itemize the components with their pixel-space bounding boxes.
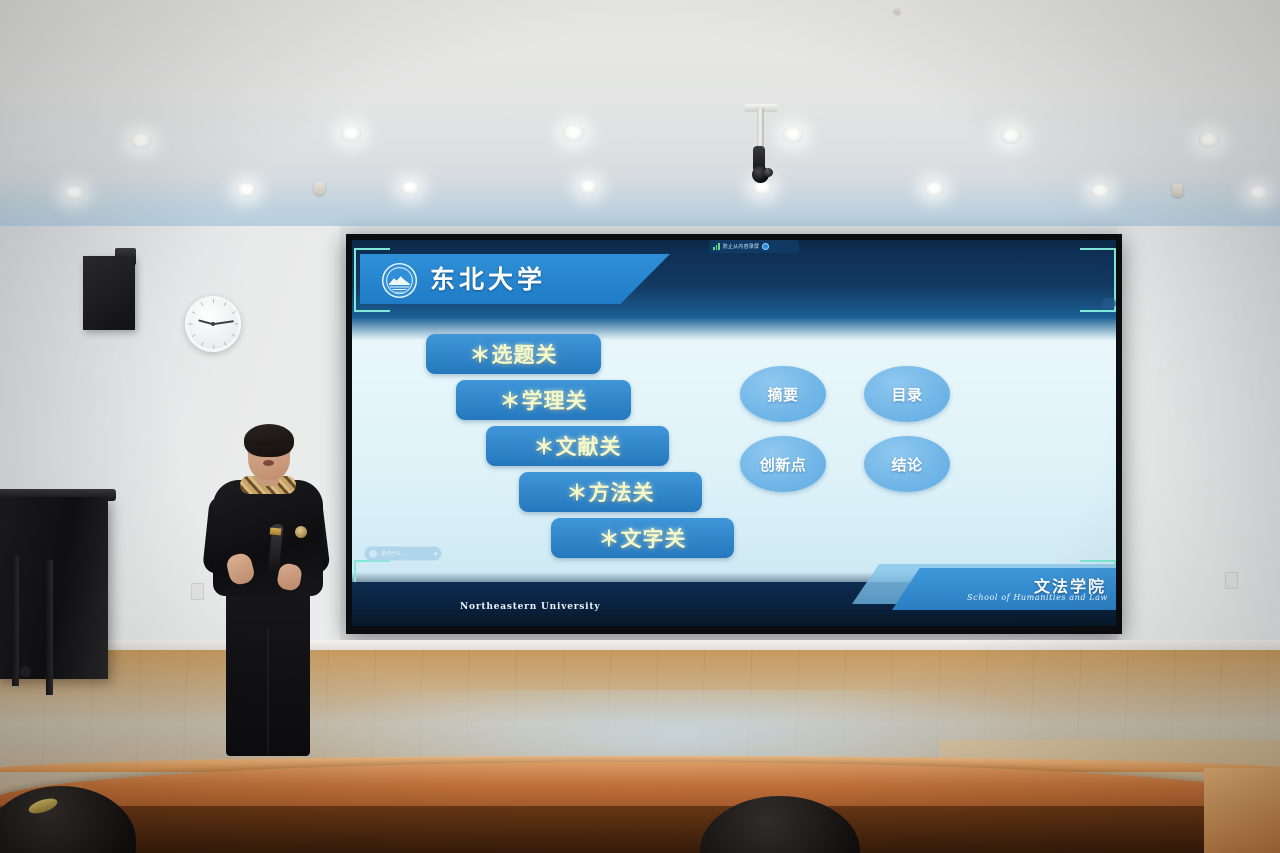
- presenter: [204, 424, 330, 756]
- clock-minute-hand: [213, 320, 234, 325]
- school-name-en: School of Humanities and Law: [967, 593, 1108, 602]
- slide-header-band: 1923 东北大学: [360, 254, 670, 304]
- wall-clock: [185, 296, 241, 352]
- ceiling-downlight: [1000, 128, 1022, 144]
- presenter-hair: [244, 424, 294, 457]
- voice-placeholder: 说点什么…: [381, 550, 406, 557]
- ceiling-downlight: [924, 182, 944, 196]
- cast-icon: [762, 243, 769, 250]
- step-item: ＊学理关: [456, 380, 631, 420]
- ellipse-item: 目录: [864, 366, 950, 422]
- right-wall: [1118, 226, 1280, 656]
- status-text: 防止从内容录屏: [723, 243, 759, 250]
- step-label: ＊方法关: [567, 477, 655, 507]
- presenter-mouth: [263, 460, 274, 466]
- university-name-cn: 东北大学: [430, 267, 546, 292]
- wall-outlet: [191, 583, 204, 600]
- ellipse-label: 摘要: [767, 384, 798, 405]
- presenter-legs: [226, 576, 310, 756]
- ceiling-downlight: [752, 181, 772, 195]
- corner-bracket-top-left: [354, 248, 390, 312]
- collapse-arrow-icon[interactable]: ◀: [433, 551, 437, 557]
- lecture-hall-photo: 1923 东北大学 ＊选题关 ＊学理关 ＊文献关 ＊方法关 ＊文字关 摘要 目录…: [0, 0, 1280, 853]
- step-item: ＊文字关: [551, 518, 734, 558]
- ceiling-downlight: [782, 127, 804, 143]
- seal-wave-icon: [389, 284, 410, 290]
- wall-speaker: [83, 256, 135, 330]
- step-label: ＊学理关: [500, 385, 588, 415]
- ellipse-label: 结论: [891, 454, 922, 475]
- seal-mountain-icon: [389, 275, 410, 284]
- ellipse-item: 创新点: [740, 436, 826, 492]
- ceiling-downlight: [562, 125, 585, 142]
- footer-ribbon-front: 文法学院 School of Humanities and Law: [892, 568, 1116, 610]
- step-item: ＊选题关: [426, 334, 601, 374]
- university-name-en: Northeastern University: [460, 602, 600, 612]
- step-label: ＊选题关: [470, 339, 558, 369]
- step-item: ＊方法关: [519, 472, 702, 512]
- step-label: ＊文献关: [534, 431, 622, 461]
- rack-caster: [20, 666, 31, 677]
- stand-leg: [12, 556, 19, 686]
- ceiling-downlight: [400, 181, 420, 195]
- microphone-band: [270, 527, 282, 535]
- ceiling-downlight: [578, 180, 598, 194]
- rack-caster: [86, 664, 97, 675]
- ceiling-downlight: [130, 133, 152, 149]
- sprinkler-head: [314, 182, 325, 195]
- screen-status-bar: 防止从内容录屏: [709, 240, 799, 253]
- stand-leg: [46, 560, 53, 695]
- side-desk: [1204, 768, 1280, 853]
- side-handle-icon[interactable]: [1102, 298, 1116, 309]
- clock-center-pin: [211, 322, 215, 326]
- ceiling-downlight: [1248, 186, 1268, 200]
- presenter-badge: [295, 526, 307, 538]
- ceiling-downlight: [64, 186, 84, 200]
- ceiling-downlight: [236, 183, 256, 197]
- ceiling-downlight: [1198, 132, 1220, 148]
- wall-outlet: [1225, 572, 1238, 589]
- signal-bars-icon: [713, 243, 720, 250]
- voice-assistant-widget[interactable]: 说点什么… ◀: [364, 546, 442, 561]
- audience-desk-shadow: [0, 806, 1280, 853]
- step-list: ＊选题关 ＊学理关 ＊文献关 ＊方法关 ＊文字关: [426, 334, 756, 564]
- ellipse-item: 结论: [864, 436, 950, 492]
- step-label: ＊文字关: [599, 523, 687, 553]
- ceiling-downlight: [1090, 184, 1110, 198]
- step-item: ＊文献关: [486, 426, 669, 466]
- camera-lens-icon: [764, 168, 773, 177]
- led-display-screen[interactable]: 1923 东北大学 ＊选题关 ＊学理关 ＊文献关 ＊方法关 ＊文字关 摘要 目录…: [352, 240, 1116, 626]
- ellipse-item: 摘要: [740, 366, 826, 422]
- ceiling: [0, 0, 1280, 232]
- microphone-dot-icon: [369, 550, 377, 558]
- sprinkler-head: [1172, 184, 1183, 197]
- ellipse-label: 目录: [891, 384, 922, 405]
- ellipse-label: 创新点: [760, 454, 807, 475]
- ceiling-downlight: [340, 126, 362, 142]
- sprinkler-head: [894, 8, 900, 14]
